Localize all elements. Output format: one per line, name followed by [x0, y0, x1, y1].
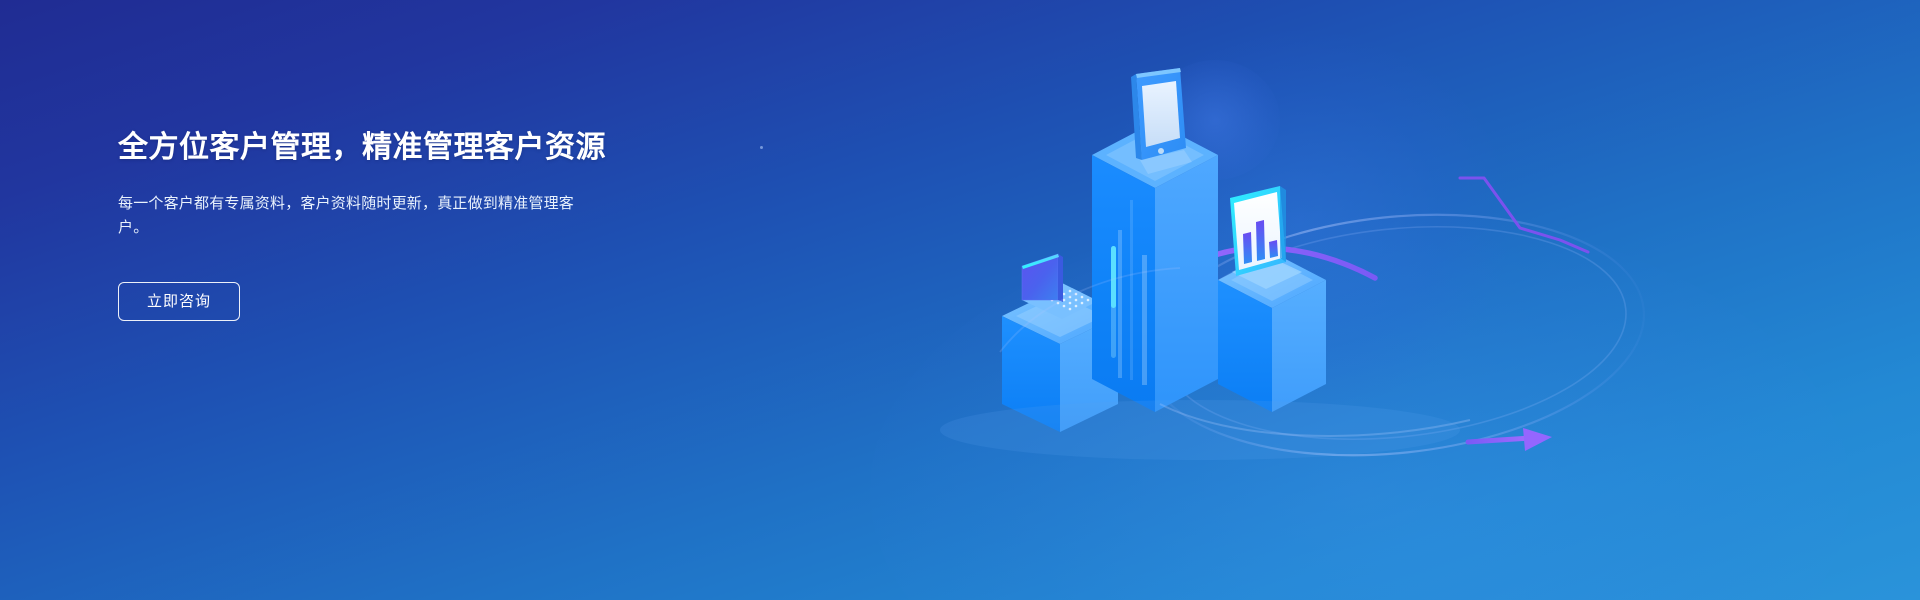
hero-copy: 全方位客户管理，精准管理客户资源 每一个客户都有专属资料，客户资料随时更新，真正…: [118, 128, 678, 321]
sparkle-dot-icon: [760, 146, 763, 149]
tablet-device: [1131, 68, 1192, 174]
background-glow-upper: [1090, 30, 1510, 410]
pillar-left: [1002, 288, 1118, 432]
monitor-bar-chart: [1243, 220, 1278, 264]
arrow-curve-left-icon: [1148, 248, 1375, 398]
consult-now-button[interactable]: 立即咨询: [118, 282, 240, 321]
background-glow-highlight: [1150, 60, 1280, 180]
polyline-connector-icon: [1460, 178, 1588, 252]
arrow-straight-right-icon: [1468, 428, 1552, 451]
ground-shadow: [940, 400, 1460, 460]
background-glow-lower: [870, 210, 1850, 600]
laptop-device: [1022, 254, 1098, 319]
monitor-device: [1230, 186, 1302, 289]
hero-subtitle: 每一个客户都有专属资料，客户资料随时更新，真正做到精准管理客户。: [118, 192, 596, 241]
orbit-ellipse: [1134, 192, 1656, 479]
page-title: 全方位客户管理，精准管理客户资源: [118, 128, 678, 169]
hero-banner: 全方位客户管理，精准管理客户资源 每一个客户都有专属资料，客户资料随时更新，真正…: [0, 0, 1920, 600]
pillar-center: [1092, 122, 1218, 412]
pillar-right: [1218, 252, 1326, 412]
orbit-ellipse-front: [1000, 268, 1470, 436]
